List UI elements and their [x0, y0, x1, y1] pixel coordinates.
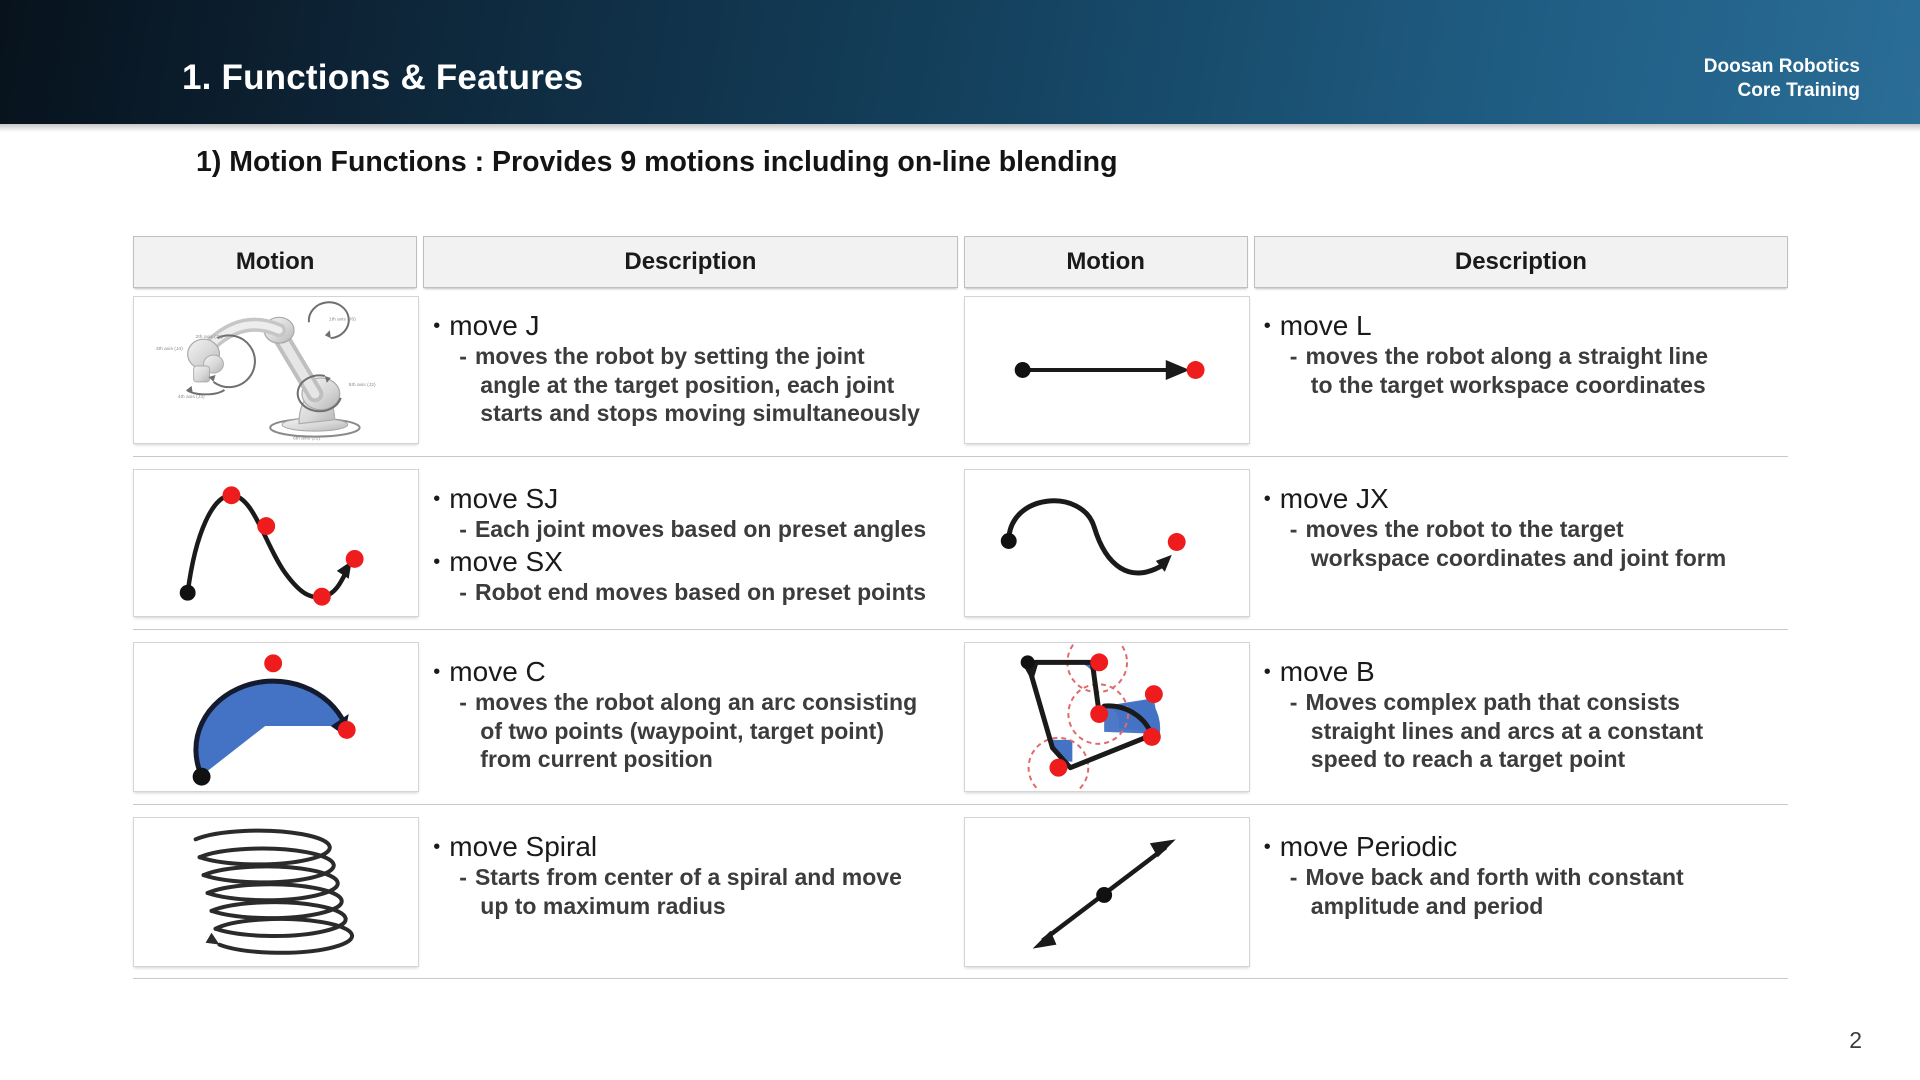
motion-detail-line: moves the robot along an arc consisting: [459, 688, 951, 716]
section-subtitle: 1) Motion Functions : Provides 9 motions…: [196, 146, 1117, 179]
s-curve-arrow-diagram: [965, 471, 1249, 615]
header-shadow: [0, 124, 1920, 132]
bullet-block: move J moves the robot by setting the jo…: [433, 310, 951, 427]
column-header-description-left: Description: [423, 236, 957, 288]
motion-name: move C: [433, 656, 951, 688]
table-header-row: Motion Description Motion Description: [133, 236, 1788, 288]
svg-text:4th axis (J3): 4th axis (J3): [178, 394, 205, 400]
straight-line-arrow-diagram: [965, 298, 1249, 442]
motion-detail-line: to the target workspace coordinates: [1311, 371, 1782, 399]
bullet-block: move JX moves the robot to the target wo…: [1264, 483, 1782, 572]
description-move-spiral: move Spiral Starts from center of a spir…: [419, 817, 957, 967]
motion-name: move L: [1264, 310, 1782, 342]
slide-header: 1. Functions & Features Doosan Robotics …: [0, 0, 1920, 124]
svg-text:5th axis (J2): 5th axis (J2): [349, 382, 376, 388]
motion-name: move Periodic: [1264, 831, 1782, 863]
description-move-b: move B Moves complex path that consists …: [1250, 642, 1788, 792]
motion-functions-table: Motion Description Motion Description: [133, 236, 1788, 967]
motion-detail-line: Each joint moves based on preset angles: [459, 515, 951, 543]
motion-detail-line: Robot end moves based on preset points: [459, 578, 951, 606]
column-header-motion-right: Motion: [964, 236, 1248, 288]
motion-detail-line: Move back and forth with constant: [1290, 863, 1782, 891]
motion-detail-line: angle at the target position, each joint: [480, 371, 951, 399]
motion-detail-line: workspace coordinates and joint form: [1311, 544, 1782, 572]
bullet-block: move SX Robot end moves based on preset …: [433, 546, 951, 607]
motion-detail-line: amplitude and period: [1311, 892, 1782, 920]
blended-path-diagram: [965, 644, 1249, 790]
column-header-description-right: Description: [1254, 236, 1788, 288]
description-move-jx: move JX moves the robot to the target wo…: [1250, 469, 1788, 617]
page-title: 1. Functions & Features: [182, 58, 583, 98]
table-bottom-divider: [133, 978, 1788, 979]
table-row: move Spiral Starts from center of a spir…: [133, 817, 1788, 967]
motion-diagram-move-b: [964, 642, 1250, 792]
column-header-motion-left: Motion: [133, 236, 417, 288]
motion-name: move J: [433, 310, 951, 342]
robot-arm-joints-image: 1th axis (J6) 2th axis (J5) 3th axis (J4…: [134, 298, 418, 442]
motion-detail-line: moves the robot by setting the joint: [459, 342, 951, 370]
motion-diagram-move-sj-sx: [133, 469, 419, 617]
brand-line-1: Doosan Robotics: [1704, 55, 1860, 79]
svg-text:1th axis (J6): 1th axis (J6): [329, 316, 356, 322]
svg-text:2th axis (J5): 2th axis (J5): [196, 334, 223, 340]
motion-name: move B: [1264, 656, 1782, 688]
table-row: move SJ Each joint moves based on preset…: [133, 469, 1788, 617]
motion-detail-line: up to maximum radius: [480, 892, 951, 920]
bullet-block: move Spiral Starts from center of a spir…: [433, 831, 951, 920]
motion-diagram-move-spiral: [133, 817, 419, 967]
description-move-sj-sx: move SJ Each joint moves based on preset…: [419, 469, 957, 617]
motion-detail-line: of two points (waypoint, target point): [480, 717, 951, 745]
motion-detail-line: speed to reach a target point: [1311, 745, 1782, 773]
brand-label: Doosan Robotics Core Training: [1704, 55, 1860, 103]
description-move-j: move J moves the robot by setting the jo…: [419, 296, 957, 444]
motion-diagram-move-periodic: [964, 817, 1250, 967]
motion-name: move JX: [1264, 483, 1782, 515]
motion-name: move Spiral: [433, 831, 951, 863]
bullet-block: move C moves the robot along an arc cons…: [433, 656, 951, 773]
bullet-block: move B Moves complex path that consists …: [1264, 656, 1782, 773]
double-arrow-periodic-diagram: [965, 819, 1249, 965]
motion-detail-line: moves the robot to the target: [1290, 515, 1782, 543]
slide-canvas: 1. Functions & Features Doosan Robotics …: [0, 0, 1920, 1080]
motion-detail-line: from current position: [480, 745, 951, 773]
motion-detail-line: moves the robot along a straight line: [1290, 342, 1782, 370]
description-move-periodic: move Periodic Move back and forth with c…: [1250, 817, 1788, 967]
motion-detail-line: Starts from center of a spiral and move: [459, 863, 951, 891]
svg-text:3th axis (J4): 3th axis (J4): [156, 346, 183, 352]
spline-waypoints-curve-diagram: [134, 471, 418, 615]
circular-arc-wedge-diagram: [134, 644, 418, 790]
motion-diagram-move-l: [964, 296, 1250, 444]
description-move-l: move L moves the robot along a straight …: [1250, 296, 1788, 444]
page-number: 2: [1849, 1027, 1862, 1054]
motion-detail-line: Moves complex path that consists: [1290, 688, 1782, 716]
bullet-block: move L moves the robot along a straight …: [1264, 310, 1782, 399]
motion-diagram-move-c: [133, 642, 419, 792]
svg-text:6th axis (J1): 6th axis (J1): [293, 436, 320, 442]
motion-diagram-move-jx: [964, 469, 1250, 617]
description-move-c: move C moves the robot along an arc cons…: [419, 642, 957, 792]
table-row: move C moves the robot along an arc cons…: [133, 642, 1788, 792]
motion-diagram-move-j: 1th axis (J6) 2th axis (J5) 3th axis (J4…: [133, 296, 419, 444]
helical-spiral-diagram: [134, 819, 418, 965]
motion-detail-line: straight lines and arcs at a constant: [1311, 717, 1782, 745]
table-row: 1th axis (J6) 2th axis (J5) 3th axis (J4…: [133, 296, 1788, 444]
bullet-block: move Periodic Move back and forth with c…: [1264, 831, 1782, 920]
bullet-block: move SJ Each joint moves based on preset…: [433, 483, 951, 544]
brand-line-2: Core Training: [1704, 79, 1860, 103]
motion-name: move SJ: [433, 483, 951, 515]
motion-name: move SX: [433, 546, 951, 578]
motion-detail-line: starts and stops moving simultaneously: [480, 399, 951, 427]
